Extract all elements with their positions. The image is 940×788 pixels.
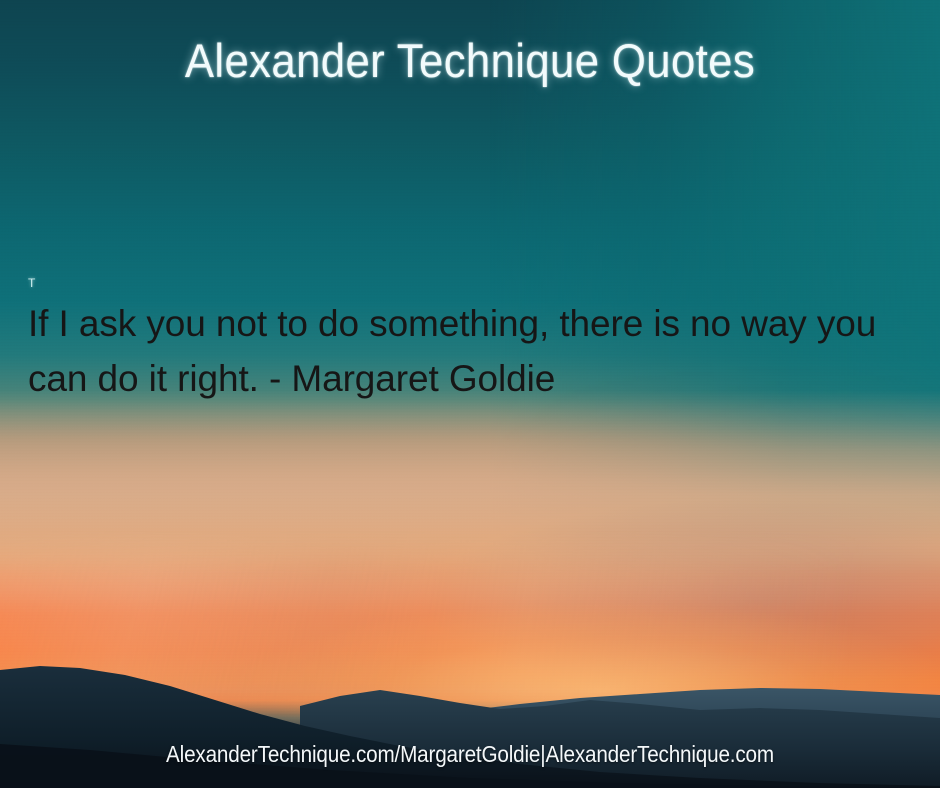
quote-marker-glyph: T xyxy=(28,277,35,289)
footer-url: AlexanderTechnique.com/MargaretGoldie|Al… xyxy=(47,741,893,768)
page-title: Alexander Technique Quotes xyxy=(33,33,907,88)
quote-text: If I ask you not to do something, there … xyxy=(28,296,906,406)
quote-card: Alexander Technique Quotes T If I ask yo… xyxy=(0,0,940,788)
